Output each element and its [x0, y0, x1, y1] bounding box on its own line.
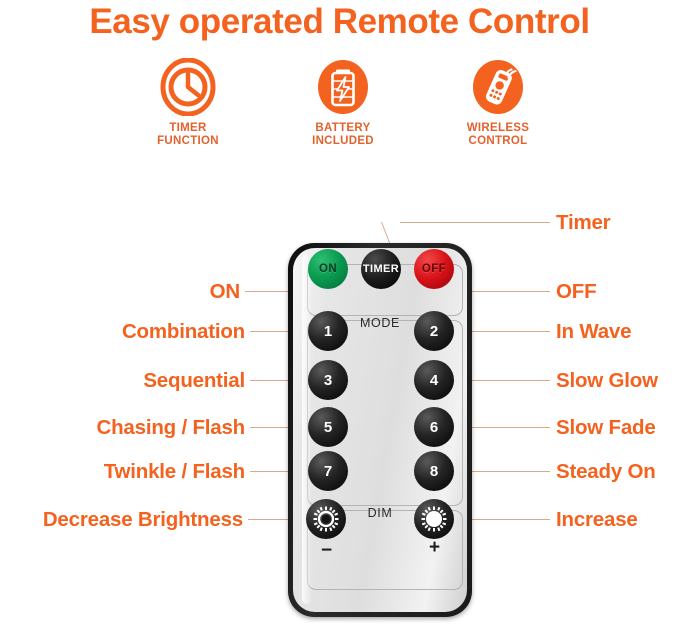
feature-badge-row: TIMER FUNCTION BATTERY INCLUDED: [128, 58, 558, 148]
button-4[interactable]: 4: [414, 360, 454, 400]
callout-slow-glow: Slow Glow: [556, 369, 658, 393]
feature-battery-included: BATTERY INCLUDED: [283, 58, 403, 148]
leader-line-timer: [400, 222, 550, 223]
button-7[interactable]: 7: [308, 451, 348, 491]
dim-plus-sign: +: [429, 538, 440, 557]
callout-combination: Combination: [0, 320, 245, 344]
callout-sequential: Sequential: [0, 369, 245, 393]
feature-wireless-control: WIRELESS CONTROL: [438, 58, 558, 148]
brightness-low-icon: [312, 505, 340, 533]
timer-button[interactable]: TIMER: [361, 249, 401, 289]
callout-slow-fade: Slow Fade: [556, 416, 656, 440]
button-2[interactable]: 2: [414, 311, 454, 351]
callout-steady-on: Steady On: [556, 460, 656, 484]
feature-caption: TIMER FUNCTION: [157, 122, 219, 148]
callout-off: OFF: [556, 280, 596, 304]
feature-caption: BATTERY INCLUDED: [312, 122, 374, 148]
callout-increase: Increase: [556, 508, 638, 532]
callout-twinkle-flash: Twinkle / Flash: [0, 460, 245, 484]
battery-icon: [315, 58, 371, 116]
dim-minus-sign: −: [321, 541, 332, 560]
remote-wireless-icon: [470, 58, 526, 116]
dim-up-button[interactable]: [414, 499, 454, 539]
on-button[interactable]: ON: [308, 249, 348, 289]
off-button[interactable]: OFF: [414, 249, 454, 289]
button-5[interactable]: 5: [308, 407, 348, 447]
feature-caption: WIRELESS CONTROL: [467, 122, 529, 148]
page-title: Easy operated Remote Control: [0, 2, 679, 42]
brightness-high-icon: [420, 505, 448, 533]
infographic-canvas: Easy operated Remote Control TIMER FUNCT…: [0, 0, 679, 634]
callout-in-wave: In Wave: [556, 320, 631, 344]
clock-icon: [160, 58, 216, 116]
feature-timer-function: TIMER FUNCTION: [128, 58, 248, 148]
button-3[interactable]: 3: [308, 360, 348, 400]
button-8[interactable]: 8: [414, 451, 454, 491]
callout-chasing-flash: Chasing / Flash: [0, 416, 245, 440]
button-6[interactable]: 6: [414, 407, 454, 447]
callout-on: ON: [0, 280, 240, 304]
button-1[interactable]: 1: [308, 311, 348, 351]
callout-timer: Timer: [556, 211, 610, 235]
dim-down-button[interactable]: [306, 499, 346, 539]
callout-decrease-brightness: Decrease Brightness: [0, 508, 243, 532]
